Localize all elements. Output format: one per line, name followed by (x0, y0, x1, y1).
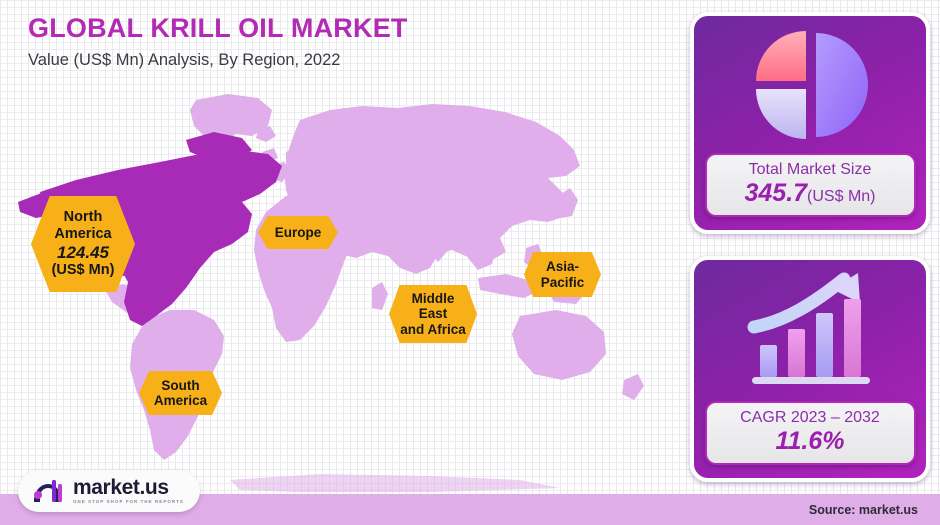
cagr-readout: CAGR 2023 – 2032 11.6% (705, 401, 916, 465)
region-name: Middle East and Africa (400, 291, 466, 337)
page-subtitle: Value (US$ Mn) Analysis, By Region, 2022 (28, 51, 648, 71)
growth-bar-chart-icon (694, 260, 926, 401)
logo-tagline: ONE STOP SHOP FOR THE REPORTS (73, 500, 184, 504)
region-name: North America (54, 209, 111, 242)
region-name: Asia- Pacific (541, 259, 585, 290)
market-us-logo-icon (31, 478, 65, 504)
pie-chart-icon-svg (746, 21, 874, 149)
bar-3 (816, 313, 833, 377)
infographic-canvas: GLOBAL KRILL OIL MARKET Value (US$ Mn) A… (0, 0, 940, 525)
bar-1 (760, 345, 777, 377)
map-label-south-america[interactable]: South America (139, 371, 222, 415)
map-label-middle-east-and-africa[interactable]: Middle East and Africa (389, 285, 477, 343)
card-cagr: CAGR 2023 – 2032 11.6% (690, 256, 930, 482)
market-us-logo[interactable]: market.us ONE STOP SHOP FOR THE REPORTS (18, 470, 200, 512)
page-title: GLOBAL KRILL OIL MARKET (28, 14, 648, 44)
cagr-value: 11.6% (711, 427, 910, 456)
growth-bar-chart-icon-svg (740, 269, 880, 393)
map-label-north-america[interactable]: North America 124.45 (US$ Mn) (31, 196, 135, 292)
cagr-caption: CAGR 2023 – 2032 (711, 408, 910, 427)
card-total-market-size: Total Market Size 345.7(US$ Mn) (690, 12, 930, 234)
pie-chart-icon (694, 16, 926, 153)
map-label-asia-pacific[interactable]: Asia- Pacific (524, 252, 601, 297)
region-name: Europe (275, 225, 322, 240)
chart-baseline (752, 377, 870, 384)
region-name: South America (154, 378, 207, 409)
market-size-readout: Total Market Size 345.7(US$ Mn) (705, 153, 916, 217)
header: GLOBAL KRILL OIL MARKET Value (US$ Mn) A… (28, 14, 648, 70)
bar-4 (844, 299, 861, 377)
market-size-value: 345.7 (744, 179, 807, 207)
bar-2 (788, 329, 805, 377)
market-size-unit: (US$ Mn) (807, 188, 875, 205)
logo-wordmark: market.us (73, 477, 184, 498)
map-label-europe[interactable]: Europe (258, 216, 338, 249)
region-unit: (US$ Mn) (52, 262, 115, 279)
market-size-value-row: 345.7(US$ Mn) (711, 179, 910, 208)
logo-text-block: market.us ONE STOP SHOP FOR THE REPORTS (73, 477, 184, 504)
region-value: 124.45 (57, 243, 109, 262)
source-attribution: Source: market.us (809, 503, 918, 517)
market-size-caption: Total Market Size (711, 160, 910, 179)
